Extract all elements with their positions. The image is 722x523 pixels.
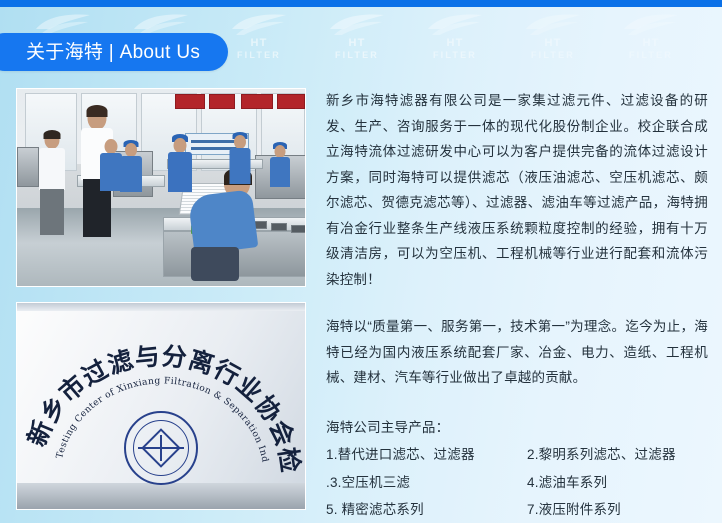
ht-filter-wing-icon [308,11,406,37]
watermark-brand: HT [602,37,700,49]
product-row: 5. 精密滤芯系列 7.液压附件系列 [326,497,708,523]
main-products-block: 海特公司主导产品： 1.替代进口滤芯、过滤器 2.黎明系列滤芯、过滤器 .3.空… [326,415,708,523]
watermark-subtitle: FILTER [504,49,602,61]
main-products-heading: 海特公司主导产品： [326,415,708,441]
machine-cabinet [17,147,39,187]
hanging-banner [241,94,273,109]
association-testing-center-plaque: 新乡市过滤与分离行业协会检测中心 Testing Center of Xinxi… [16,302,306,510]
person-visitor [37,131,67,235]
product-item: .3.空压机三滤 [326,470,517,496]
about-us-page: HT FILTER HT FILTER HT FILTER HT [0,0,722,523]
person-worker [167,135,193,191]
product-item: 1.替代进口滤芯、过滤器 [326,442,517,468]
watermark-subtitle: FILTER [308,49,406,61]
product-item: 4.滤油车系列 [517,470,708,496]
product-row: .3.空压机三滤 4.滤油车系列 [326,470,708,496]
product-item: 5. 精密滤芯系列 [326,497,517,523]
product-item: 7.液压附件系列 [517,497,708,523]
about-us-content: 新乡市海特滤器有限公司是一家集过滤元件、过滤设备的研发、生产、咨询服务于一体的现… [326,88,708,523]
watermark-brand: HT [308,37,406,49]
ht-filter-wing-icon [602,11,700,37]
watermark-subtitle: FILTER [602,49,700,61]
factory-workshop-photo [16,88,306,287]
small-part [291,225,305,233]
person-worker [229,133,251,183]
ht-filter-wing-icon [406,11,504,37]
ht-filter-wing-icon [210,11,308,37]
product-item: 2.黎明系列滤芯、过滤器 [517,442,708,468]
person-worker [269,143,291,187]
company-intro-paragraph: 新乡市海特滤器有限公司是一家集过滤元件、过滤设备的研发、生产、咨询服务于一体的现… [326,88,708,292]
company-philosophy-paragraph: 海特以“质量第一、服务第一，技术第一”为理念。迄今为止，海特已经为国内液压系统配… [326,314,708,391]
watermark-subtitle: FILTER [406,49,504,61]
section-title-pill: 关于海特 | About Us [0,33,228,71]
product-row: 1.替代进口滤芯、过滤器 2.黎明系列滤芯、过滤器 [326,442,708,468]
top-accent-bar [0,0,722,7]
hanging-banner [277,94,305,109]
watermark-brand: HT [504,37,602,49]
person-seated-worker [193,171,263,279]
association-seal [124,411,198,485]
watermark-logo: HT FILTER [406,11,504,65]
ht-filter-wing-icon [504,11,602,37]
hanging-banner [209,94,235,109]
hanging-banner [175,94,205,109]
small-part [271,223,287,231]
watermark-logo: HT FILTER [602,11,700,65]
watermark-logo: HT FILTER [504,11,602,65]
person-worker [119,141,143,191]
watermark-logo: HT FILTER [308,11,406,65]
seal-horizontal-line [138,447,184,449]
page-title: 关于海特 | About Us [26,43,200,62]
watermark-brand: HT [406,37,504,49]
